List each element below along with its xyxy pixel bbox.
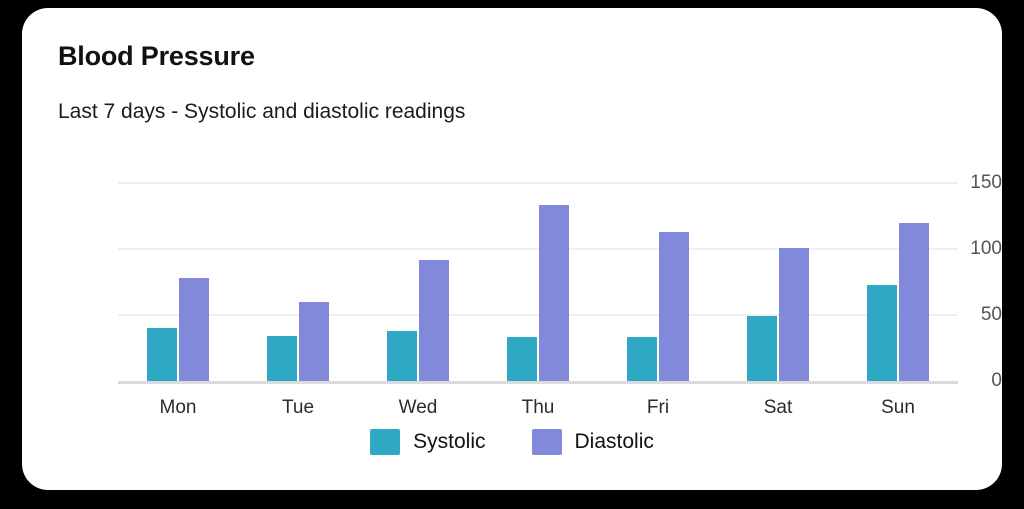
legend-item-diastolic[interactable]: Diastolic xyxy=(532,429,654,455)
x-axis-tick-label-tue: Tue xyxy=(282,397,314,419)
legend-item-systolic[interactable]: Systolic xyxy=(370,429,485,455)
bar-diastolic-fri[interactable] xyxy=(659,232,689,381)
bar-systolic-tue[interactable] xyxy=(267,336,297,381)
screenshot-root: Blood Pressure Last 7 days - Systolic an… xyxy=(0,0,1024,509)
bar-diastolic-sun[interactable] xyxy=(899,223,929,381)
legend-item-label: Systolic xyxy=(413,430,485,454)
bar-diastolic-thu[interactable] xyxy=(539,205,569,381)
bars-group xyxy=(118,183,958,381)
chart-legend: SystolicDiastolic xyxy=(22,429,1002,455)
bar-diastolic-sat[interactable] xyxy=(779,248,809,381)
legend-swatch-icon xyxy=(532,429,562,455)
legend-item-label: Diastolic xyxy=(575,430,654,454)
x-axis-tick-label-mon: Mon xyxy=(160,397,197,419)
bar-diastolic-wed[interactable] xyxy=(419,260,449,381)
x-axis-tick-label-fri: Fri xyxy=(647,397,669,419)
bar-systolic-sun[interactable] xyxy=(867,285,897,381)
x-axis-line xyxy=(118,381,958,384)
bar-systolic-thu[interactable] xyxy=(507,337,537,381)
x-axis-tick-label-thu: Thu xyxy=(522,397,555,419)
bar-systolic-wed[interactable] xyxy=(387,331,417,381)
x-axis-tick-label-sat: Sat xyxy=(764,397,793,419)
bar-systolic-fri[interactable] xyxy=(627,337,657,381)
bar-diastolic-mon[interactable] xyxy=(179,278,209,381)
legend-swatch-icon xyxy=(370,429,400,455)
x-axis-tick-label-wed: Wed xyxy=(399,397,438,419)
chart-plot-area: 050100150 MonTueWedThuFriSatSun xyxy=(22,8,1002,490)
bar-systolic-sat[interactable] xyxy=(747,316,777,381)
bar-systolic-mon[interactable] xyxy=(147,328,177,381)
bar-diastolic-tue[interactable] xyxy=(299,302,329,381)
x-axis-tick-label-sun: Sun xyxy=(881,397,915,419)
blood-pressure-card: Blood Pressure Last 7 days - Systolic an… xyxy=(22,8,1002,490)
